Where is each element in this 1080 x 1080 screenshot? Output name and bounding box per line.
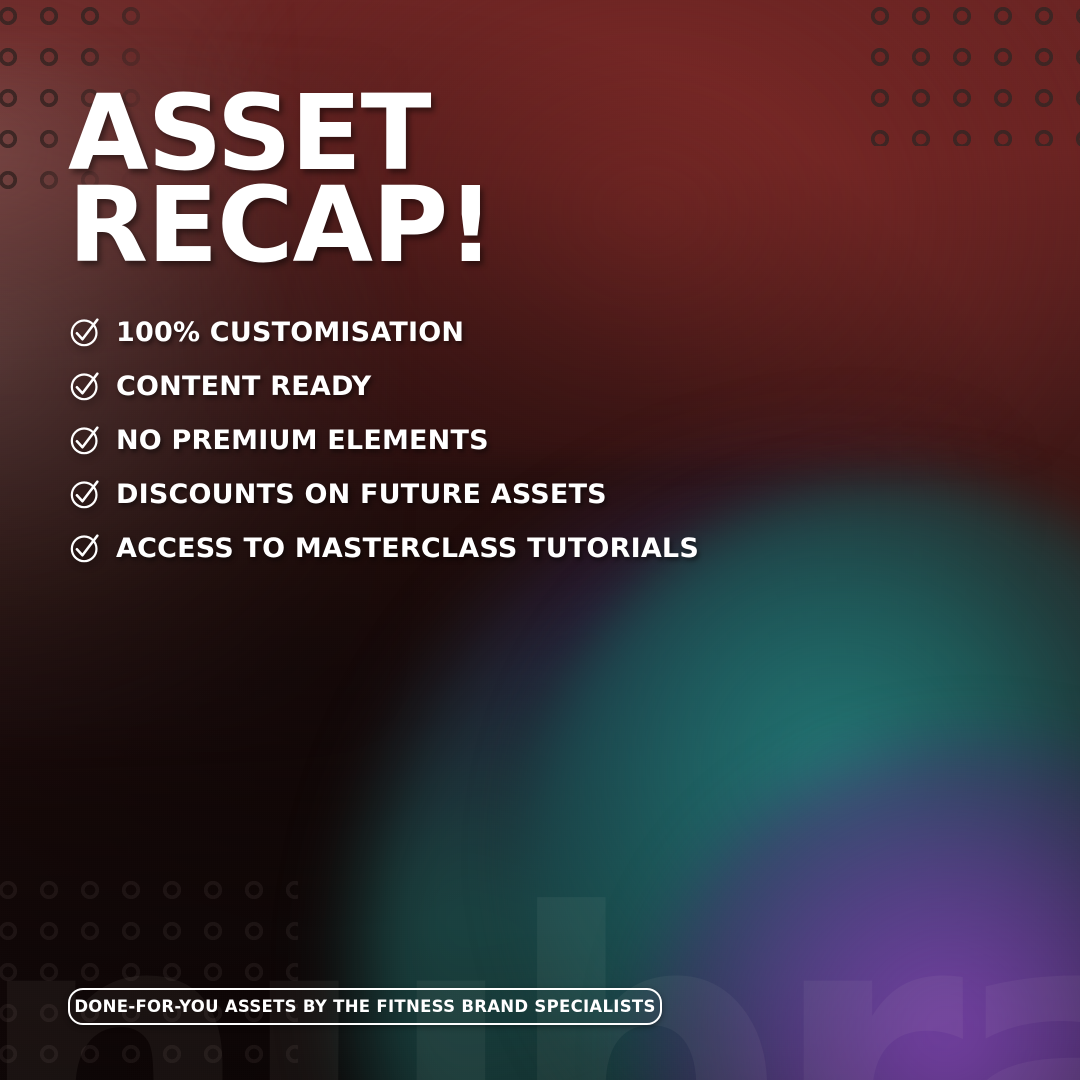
list-item-label: CONTENT READY	[116, 371, 371, 402]
ring-pattern-bottom-left	[0, 880, 298, 1080]
footer-banner-label: DONE-FOR-YOU ASSETS BY THE FITNESS BRAND…	[74, 997, 655, 1016]
feature-checklist: 100% CUSTOMISATION CONTENT READY NO PREM…	[68, 313, 968, 583]
poster-canvas: nubrand ASSET RECAP! 100% CUSTOMISATION …	[0, 0, 1080, 1080]
list-item-label: ACCESS TO MASTERCLASS TUTORIALS	[116, 533, 699, 564]
list-item-label: NO PREMIUM ELEMENTS	[116, 425, 489, 456]
list-item: NO PREMIUM ELEMENTS	[68, 421, 968, 459]
list-item-label: DISCOUNTS ON FUTURE ASSETS	[116, 479, 607, 510]
list-item-label: 100% CUSTOMISATION	[116, 317, 464, 348]
list-item: 100% CUSTOMISATION	[68, 313, 968, 351]
footer-banner: DONE-FOR-YOU ASSETS BY THE FITNESS BRAND…	[68, 988, 662, 1025]
page-title: ASSET RECAP!	[68, 88, 788, 271]
list-item: ACCESS TO MASTERCLASS TUTORIALS	[68, 529, 968, 567]
list-item: CONTENT READY	[68, 367, 968, 405]
check-circle-icon	[68, 315, 102, 349]
ring-pattern-top-right	[870, 6, 1080, 146]
check-circle-icon	[68, 531, 102, 565]
check-circle-icon	[68, 369, 102, 403]
check-circle-icon	[68, 423, 102, 457]
check-circle-icon	[68, 477, 102, 511]
list-item: DISCOUNTS ON FUTURE ASSETS	[68, 475, 968, 513]
